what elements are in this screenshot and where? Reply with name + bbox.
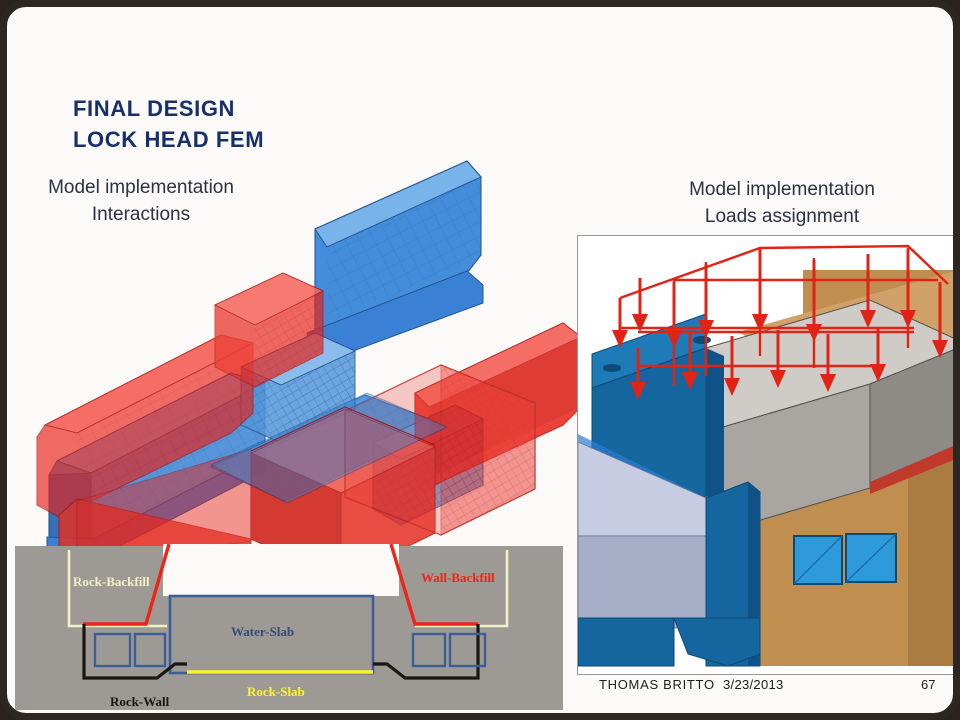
- wall-side-face: [706, 348, 724, 504]
- loads-assignment-panel: [577, 235, 959, 675]
- right-caption-line-2: Loads assignment: [657, 204, 907, 231]
- slide-footer: THOMAS BRITTO 3/23/2013 67: [7, 677, 953, 697]
- right-caption: Model implementation Loads assignment: [657, 177, 907, 231]
- fem-model-svg: [15, 137, 615, 557]
- label-wall-backfill: Wall-Backfill: [421, 570, 495, 585]
- label-water-slab: Water-Slab: [231, 624, 294, 639]
- title-line-1: FINAL DESIGN: [73, 93, 264, 124]
- wall-notch: [603, 364, 621, 372]
- loads-svg: [578, 236, 958, 674]
- water-front-face: [578, 536, 706, 628]
- open-chamber: [163, 544, 399, 596]
- presentation-slide: FINAL DESIGN LOCK HEAD FEM Model impleme…: [0, 0, 960, 720]
- wall-notch: [693, 336, 711, 344]
- right-caption-line-1: Model implementation: [657, 177, 907, 204]
- label-rock-backfill: Rock-Backfill: [73, 574, 150, 589]
- footer-author: THOMAS BRITTO: [599, 677, 715, 692]
- fem-model-figure: [15, 137, 615, 557]
- footer-date: 3/23/2013: [723, 677, 784, 692]
- base-left: [578, 618, 674, 666]
- footer-page-number: 67: [921, 677, 935, 692]
